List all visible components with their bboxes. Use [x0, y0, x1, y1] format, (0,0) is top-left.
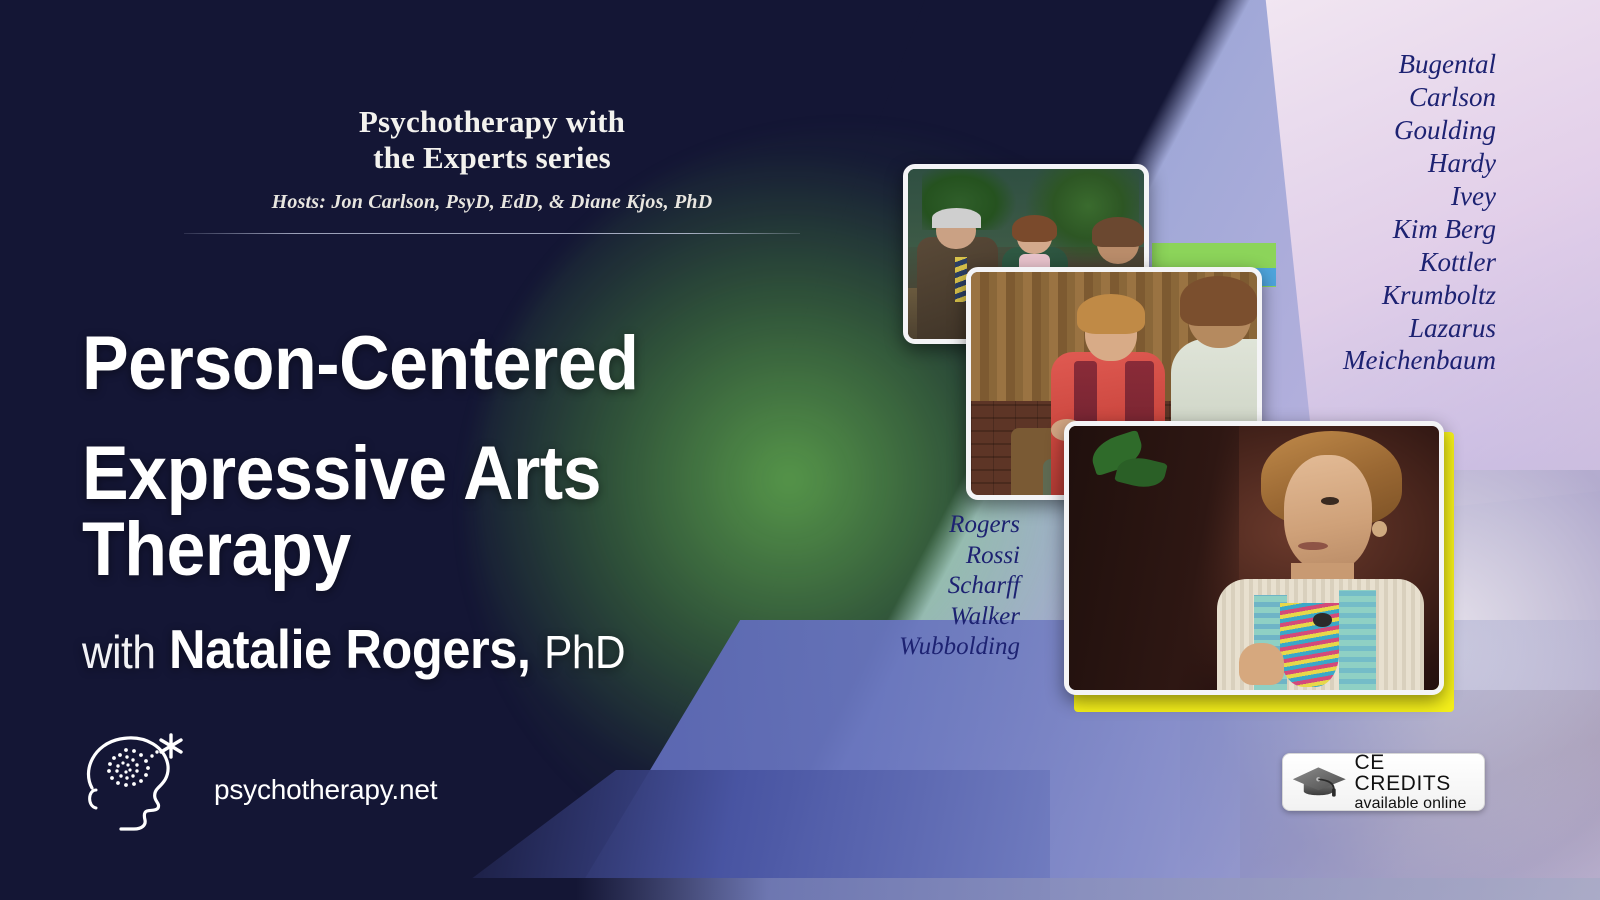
brand-logo[interactable]: psychotherapy.net	[74, 726, 394, 834]
p2-client-hair	[1180, 276, 1257, 325]
ce-badge-line1: CE CREDITS	[1355, 752, 1476, 794]
title-line-2: Expressive Arts Therapy	[82, 436, 744, 588]
photo-thumbnail-natalie-rogers[interactable]	[1064, 421, 1444, 695]
expert-name: Lazarus	[1343, 312, 1496, 345]
p1-woman-hair	[1012, 215, 1057, 242]
p1-third-person-hair	[1092, 217, 1144, 248]
ce-badge-line2: available online	[1355, 796, 1476, 812]
series-title-line2: the Experts series	[184, 140, 800, 176]
expert-name: Walker	[820, 602, 1020, 633]
p3-scarf-right	[1339, 590, 1376, 690]
poster-canvas: Psychotherapy with the Experts series Ho…	[0, 0, 1600, 900]
expert-name: Kottler	[1343, 246, 1496, 279]
p1-man-hair	[932, 208, 982, 228]
expert-name: Rogers	[820, 510, 1020, 541]
presenter-with-word: with	[82, 626, 155, 678]
expert-name: Wubbolding	[820, 632, 1020, 663]
header-divider	[184, 233, 800, 234]
expert-name: Scharff	[820, 571, 1020, 602]
p2-woman-hair	[1077, 294, 1146, 334]
expert-name: Kim Berg	[1343, 213, 1496, 246]
p3-lapel-mic	[1313, 613, 1332, 626]
presenter-line: with Natalie Rogers, PhD	[82, 622, 744, 677]
title-line-1: Person-Centered	[82, 326, 744, 402]
expert-name: Carlson	[1343, 81, 1496, 114]
series-title: Psychotherapy with the Experts series	[184, 104, 800, 177]
expert-name: Goulding	[1343, 114, 1496, 147]
hosts-line: Hosts: Jon Carlson, PsyD, EdD, & Diane K…	[184, 191, 800, 214]
series-title-line1: Psychotherapy with	[184, 104, 800, 140]
expert-names-bottom-list: Rogers Rossi Scharff Walker Wubbolding	[820, 510, 1020, 663]
brand-wordmark: psychotherapy.net	[214, 774, 437, 806]
bg-bottom-edge-strip	[0, 878, 1600, 900]
series-header: Psychotherapy with the Experts series Ho…	[184, 104, 800, 234]
expert-name: Rossi	[820, 541, 1020, 572]
head-brain-spiral-icon	[74, 726, 204, 834]
presenter-name: Natalie Rogers,	[169, 618, 530, 680]
p3-earring	[1372, 521, 1387, 537]
expert-names-top-list: Bugental Carlson Goulding Hardy Ivey Kim…	[1343, 48, 1496, 377]
ce-credits-badge[interactable]: CE CREDITS available online	[1282, 753, 1485, 811]
p3-face	[1284, 455, 1373, 571]
main-title-block: Person-Centered Expressive Arts Therapy …	[82, 326, 802, 677]
ce-badge-text: CE CREDITS available online	[1355, 752, 1476, 812]
expert-name: Krumboltz	[1343, 279, 1496, 312]
graduation-cap-icon	[1291, 760, 1348, 804]
p3-mouth	[1298, 542, 1328, 550]
expert-name: Bugental	[1343, 48, 1496, 81]
expert-name: Meichenbaum	[1343, 344, 1496, 377]
presenter-credential: PhD	[544, 626, 625, 678]
expert-name: Hardy	[1343, 147, 1496, 180]
p3-hand	[1239, 643, 1283, 685]
expert-name: Ivey	[1343, 180, 1496, 213]
photo-3-scene	[1069, 426, 1439, 690]
